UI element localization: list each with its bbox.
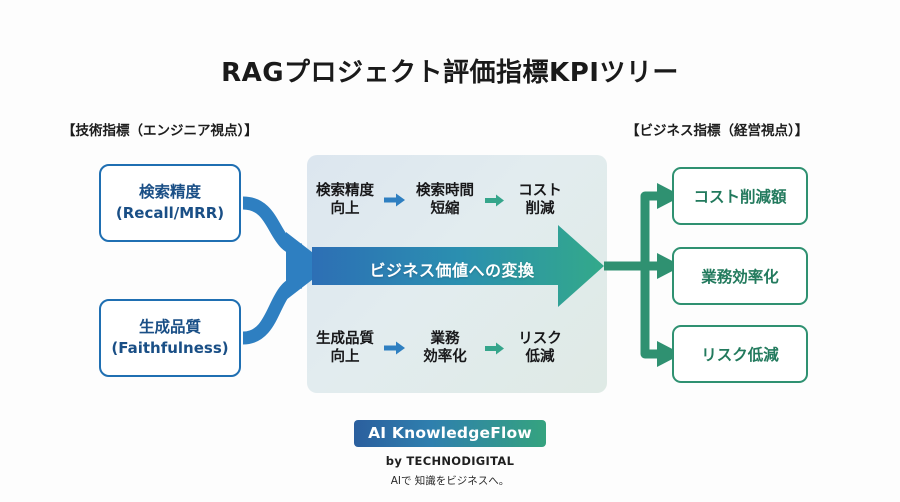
technical-metric-box-search-accuracy[interactable]: 検索精度 (Recall/MRR) <box>99 164 241 242</box>
chain-arrow-blue-icon <box>383 341 407 355</box>
chain-node-line1: コスト <box>518 183 562 199</box>
chain-arrow-teal-icon <box>483 342 507 355</box>
connector-search-to-hub <box>243 203 302 250</box>
chain-node-generation-quality-up: 生成品質 向上 <box>307 330 383 366</box>
technical-metric-box-generation-quality[interactable]: 生成品質 (Faithfulness) <box>99 299 241 377</box>
business-outcome-box-cost-savings[interactable]: コスト削減額 <box>672 167 808 225</box>
technical-metric-line1: 検索精度 <box>139 182 201 203</box>
brand-company: by TECHNODIGITAL <box>0 454 900 468</box>
business-outcome-box-efficiency[interactable]: 業務効率化 <box>672 247 808 305</box>
chain-node-line1: 生成品質 <box>316 331 374 347</box>
chain-node-line1: リスク <box>518 331 562 347</box>
chain-node-line2: 低減 <box>507 348 573 366</box>
business-outcome-label: リスク低減 <box>701 343 779 365</box>
chain-node-line2: 向上 <box>307 348 383 366</box>
connector-quality-to-hub <box>243 282 302 338</box>
chain-node-search-time-reduction: 検索時間 短縮 <box>407 182 483 218</box>
chain-node-cost-reduction: コスト 削減 <box>507 182 573 218</box>
chain-row-search: 検索精度 向上 検索時間 短縮 コスト 削減 <box>307 172 607 228</box>
technical-metric-line2: (Faithfulness) <box>111 338 228 358</box>
chain-node-line2: 向上 <box>307 200 383 218</box>
technical-metrics-header: 【技術指標（エンジニア視点）】 <box>62 119 258 139</box>
business-outcome-label: コスト削減額 <box>693 185 786 207</box>
footer-branding: AI KnowledgeFlow by TECHNODIGITAL AIで 知識… <box>0 420 900 488</box>
infographic-canvas: RAGプロジェクト評価指標KPIツリー 【技術指標（エンジニア視点）】 【ビジネ… <box>0 0 900 502</box>
chain-node-line2: 削減 <box>507 200 573 218</box>
business-outcome-box-risk[interactable]: リスク低減 <box>672 325 808 383</box>
technical-metric-line2: (Recall/MRR) <box>116 203 224 223</box>
chain-node-line1: 検索精度 <box>316 183 374 199</box>
chain-node-search-accuracy-up: 検索精度 向上 <box>307 182 383 218</box>
transformation-arrow-label: ビジネス価値への変換 <box>307 257 597 281</box>
technical-metric-line1: 生成品質 <box>139 317 201 338</box>
chain-node-line1: 業務 <box>431 331 460 347</box>
chain-arrow-teal-icon <box>483 194 507 207</box>
chain-node-line2: 短縮 <box>407 200 483 218</box>
chain-node-operational-efficiency: 業務 効率化 <box>407 330 483 366</box>
brand-badge: AI KnowledgeFlow <box>354 420 546 447</box>
page-title: RAGプロジェクト評価指標KPIツリー <box>0 52 900 89</box>
chain-row-quality: 生成品質 向上 業務 効率化 リスク 低減 <box>307 320 607 376</box>
business-metrics-header: 【ビジネス指標（経営視点）】 <box>626 119 808 139</box>
chain-arrow-blue-icon <box>383 193 407 207</box>
chain-node-risk-reduction: リスク 低減 <box>507 330 573 366</box>
brand-tagline: AIで 知識をビジネスへ。 <box>0 473 900 488</box>
business-outcome-label: 業務効率化 <box>701 265 779 287</box>
chain-node-line1: 検索時間 <box>416 183 474 199</box>
chain-node-line2: 効率化 <box>407 348 483 366</box>
